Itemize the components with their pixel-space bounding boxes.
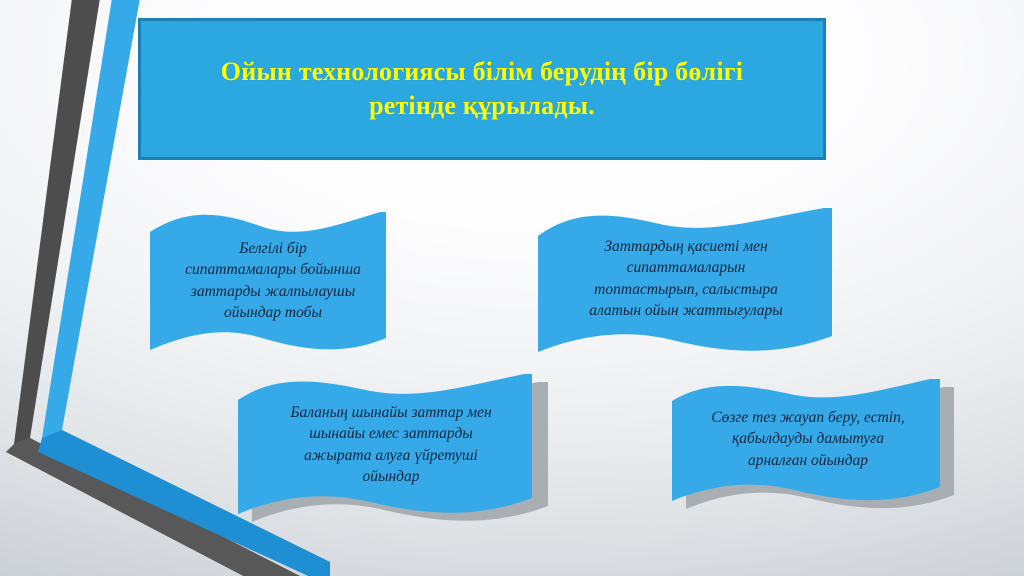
- wave-banner-3-text: Баланың шынайы заттар мен шынайы емес за…: [236, 402, 546, 488]
- wave-banner-2: Заттардың қасиеті мен сипаттамаларын топ…: [536, 206, 836, 371]
- wave-banner-1-text: Белгілі бір сипаттамалары бойынша заттар…: [148, 238, 398, 324]
- slide-canvas: Ойын технологиясы білім берудің бір бөлі…: [0, 0, 1024, 576]
- page-title: Ойын технологиясы білім берудің бір бөлі…: [195, 55, 769, 124]
- wave-banner-3: Баланың шынайы заттар мен шынайы емес за…: [236, 372, 546, 534]
- wave-banner-4: Сөзге тез жауап беру, естіп, қабылдауды …: [668, 375, 948, 520]
- wave-banner-2-text: Заттардың қасиеті мен сипаттамаларын топ…: [536, 236, 836, 322]
- wave-banner-4-text: Сөзге тез жауап беру, естіп, қабылдауды …: [668, 407, 948, 471]
- wave-banner-1: Белгілі бір сипаттамалары бойынша заттар…: [148, 210, 398, 370]
- title-box: Ойын технологиясы білім берудің бір бөлі…: [138, 18, 826, 160]
